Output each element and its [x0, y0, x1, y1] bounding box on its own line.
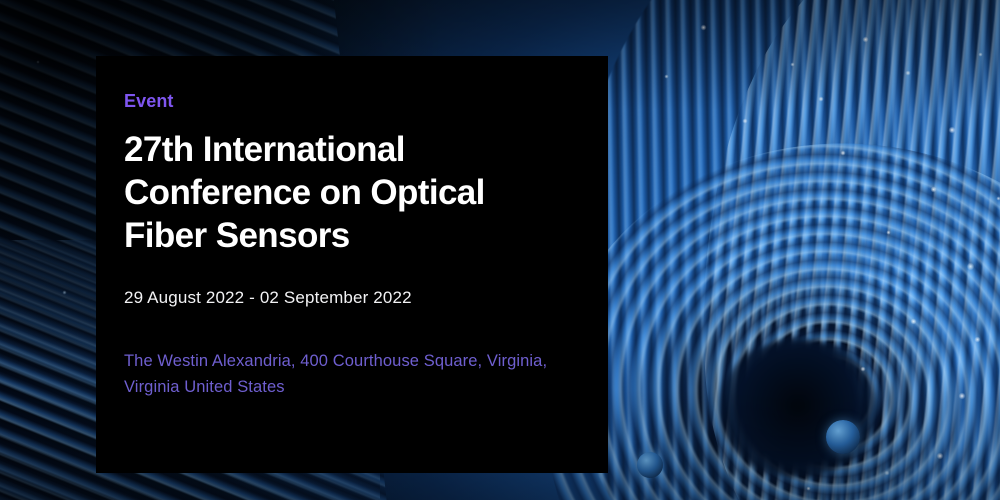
- fiber-bead-secondary-icon: [637, 452, 663, 478]
- vortex-center-icon: [718, 338, 878, 478]
- event-banner: Event 27th International Conference on O…: [0, 0, 1000, 500]
- event-info-panel: Event 27th International Conference on O…: [96, 56, 608, 473]
- event-dates: 29 August 2022 - 02 September 2022: [124, 287, 576, 309]
- event-title: 27th International Conference on Optical…: [124, 128, 574, 257]
- event-type-label: Event: [124, 92, 576, 112]
- fiber-bead-icon: [826, 420, 860, 454]
- event-location: The Westin Alexandria, 400 Courthouse Sq…: [124, 349, 572, 400]
